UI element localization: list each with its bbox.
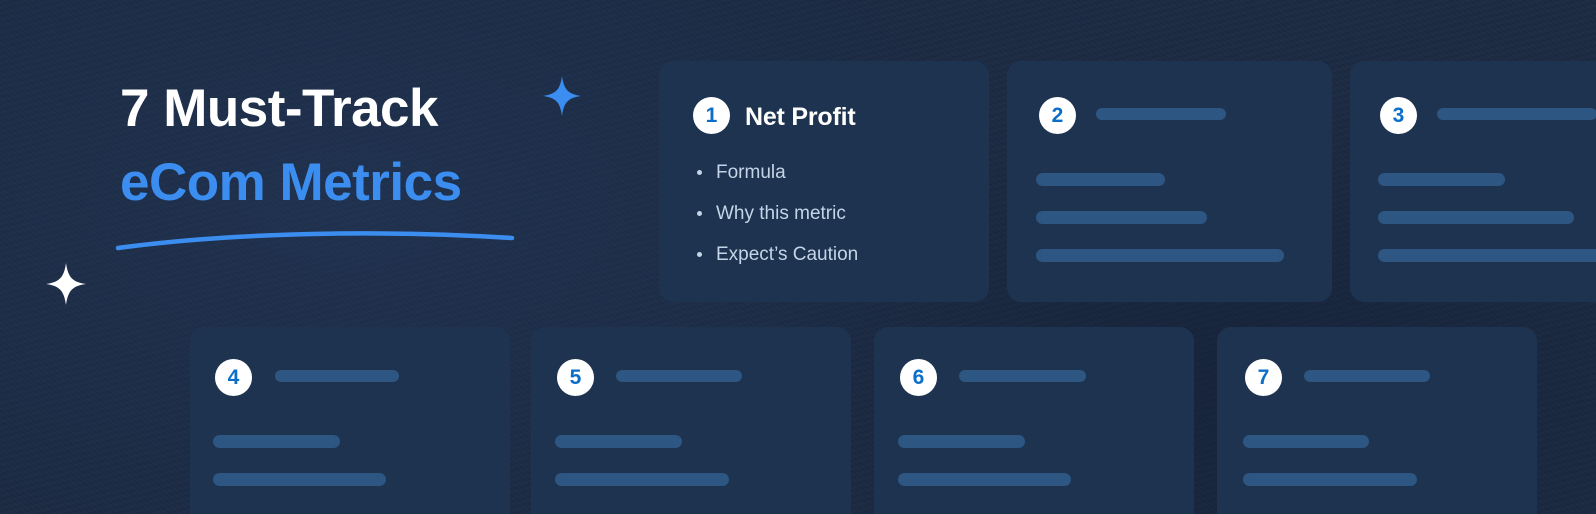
card-3-title-placeholder-bar	[1437, 108, 1596, 120]
card-1-bullet-2: Why this metric	[694, 204, 858, 223]
sparkle-white-icon	[46, 263, 86, 305]
card-3-body-bar-2	[1378, 211, 1574, 224]
card-3-body-bar-1	[1378, 173, 1505, 186]
card-1-bullet-3: Expect’s Caution	[694, 245, 858, 264]
card-6-body-bar-1	[898, 435, 1025, 448]
metric-card-1[interactable]: 1 Net Profit Formula Why this metric Exp…	[659, 61, 989, 302]
infographic-canvas: 7 Must-Track eCom Metrics 1 Net Profit F…	[0, 0, 1596, 514]
card-1-bullet-1: Formula	[694, 163, 858, 182]
card-7-title-placeholder-bar	[1304, 370, 1430, 382]
card-1-number-badge: 1	[693, 97, 730, 134]
card-4-body-bar-2	[213, 473, 386, 486]
card-4-title-placeholder-bar	[275, 370, 399, 382]
metric-card-2[interactable]: 2	[1007, 61, 1332, 302]
metric-card-7[interactable]: 7	[1217, 327, 1537, 514]
headline-block: 7 Must-Track eCom Metrics	[120, 82, 462, 210]
sparkle-blue-icon	[543, 76, 581, 116]
card-3-body-bar-3	[1378, 249, 1596, 262]
card-5-body-bar-1	[555, 435, 682, 448]
metric-card-4[interactable]: 4	[190, 327, 510, 514]
metric-card-3[interactable]: 3	[1350, 61, 1596, 302]
card-2-body-bar-3	[1036, 249, 1284, 262]
metric-card-6[interactable]: 6	[874, 327, 1194, 514]
headline-underline-stroke	[116, 222, 516, 252]
card-2-body-bar-2	[1036, 211, 1207, 224]
card-1-title: Net Profit	[745, 103, 856, 132]
card-5-body-bar-2	[555, 473, 729, 486]
card-2-body-bar-1	[1036, 173, 1165, 186]
card-7-body-bar-2	[1243, 473, 1417, 486]
card-3-number-badge: 3	[1380, 97, 1417, 134]
card-7-number-badge: 7	[1245, 359, 1282, 396]
card-4-body-bar-1	[213, 435, 340, 448]
card-6-number-badge: 6	[900, 359, 937, 396]
headline-line-1: 7 Must-Track	[120, 82, 462, 136]
card-6-body-bar-2	[898, 473, 1071, 486]
card-5-title-placeholder-bar	[616, 370, 742, 382]
card-6-title-placeholder-bar	[959, 370, 1086, 382]
card-2-title-placeholder-bar	[1096, 108, 1226, 120]
card-4-number-badge: 4	[215, 359, 252, 396]
headline-line-2: eCom Metrics	[120, 156, 462, 210]
metric-card-5[interactable]: 5	[531, 327, 851, 514]
card-2-number-badge: 2	[1039, 97, 1076, 134]
card-5-number-badge: 5	[557, 359, 594, 396]
card-1-bullet-list: Formula Why this metric Expect’s Caution	[694, 163, 858, 264]
card-7-body-bar-1	[1243, 435, 1369, 448]
